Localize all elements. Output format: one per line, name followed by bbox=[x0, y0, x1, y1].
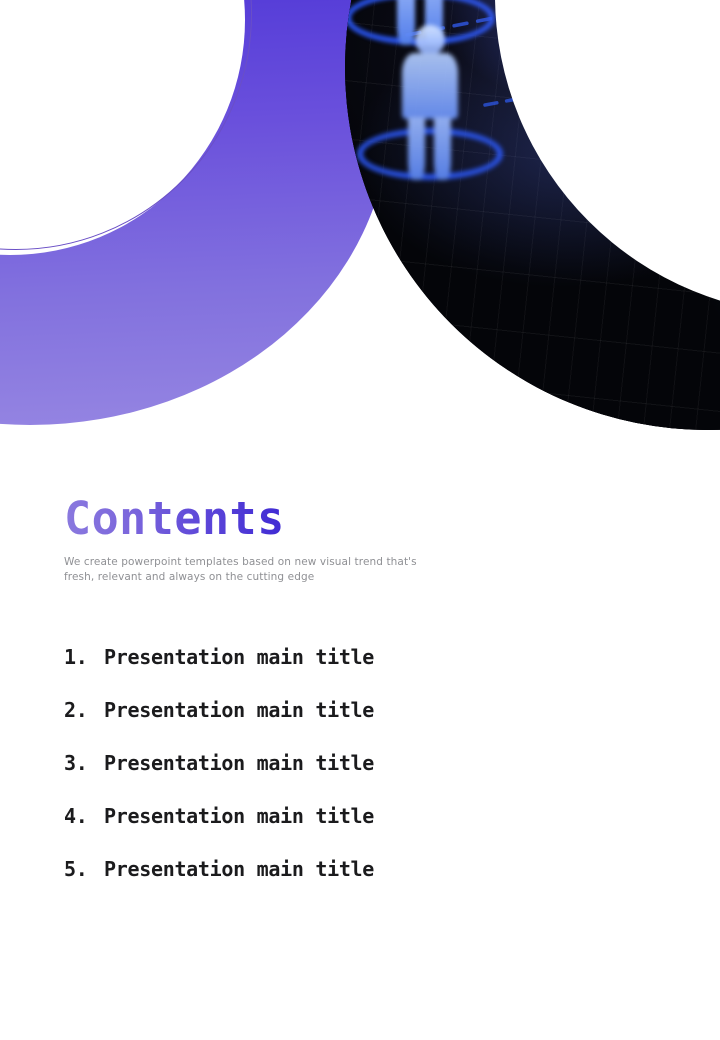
list-item-number: 2. bbox=[64, 698, 104, 722]
list-item-label: Presentation main title bbox=[104, 645, 374, 669]
list-item[interactable]: 4. Presentation main title bbox=[64, 804, 484, 857]
list-item-number: 1. bbox=[64, 645, 104, 669]
list-item[interactable]: 1. Presentation main title bbox=[64, 645, 484, 698]
subtitle-line-2: fresh, relevant and always on the cuttin… bbox=[64, 570, 424, 585]
network-photo-image bbox=[345, 0, 720, 430]
slide-canvas: Contents We create powerpoint templates … bbox=[0, 0, 720, 1040]
list-item-number: 3. bbox=[64, 751, 104, 775]
page-subtitle: We create powerpoint templates based on … bbox=[64, 555, 424, 585]
list-item-label: Presentation main title bbox=[104, 857, 374, 881]
list-item-label: Presentation main title bbox=[104, 751, 374, 775]
list-item-number: 5. bbox=[64, 857, 104, 881]
network-photo-circle bbox=[345, 0, 720, 430]
list-item[interactable]: 2. Presentation main title bbox=[64, 698, 484, 751]
page-title: Contents bbox=[64, 496, 285, 541]
subtitle-line-1: We create powerpoint templates based on … bbox=[64, 556, 417, 568]
contents-list: 1. Presentation main title 2. Presentati… bbox=[64, 645, 484, 910]
list-item[interactable]: 5. Presentation main title bbox=[64, 857, 484, 910]
list-item[interactable]: 3. Presentation main title bbox=[64, 751, 484, 804]
hero-graphic bbox=[0, 0, 720, 430]
list-item-label: Presentation main title bbox=[104, 698, 374, 722]
list-item-number: 4. bbox=[64, 804, 104, 828]
list-item-label: Presentation main title bbox=[104, 804, 374, 828]
